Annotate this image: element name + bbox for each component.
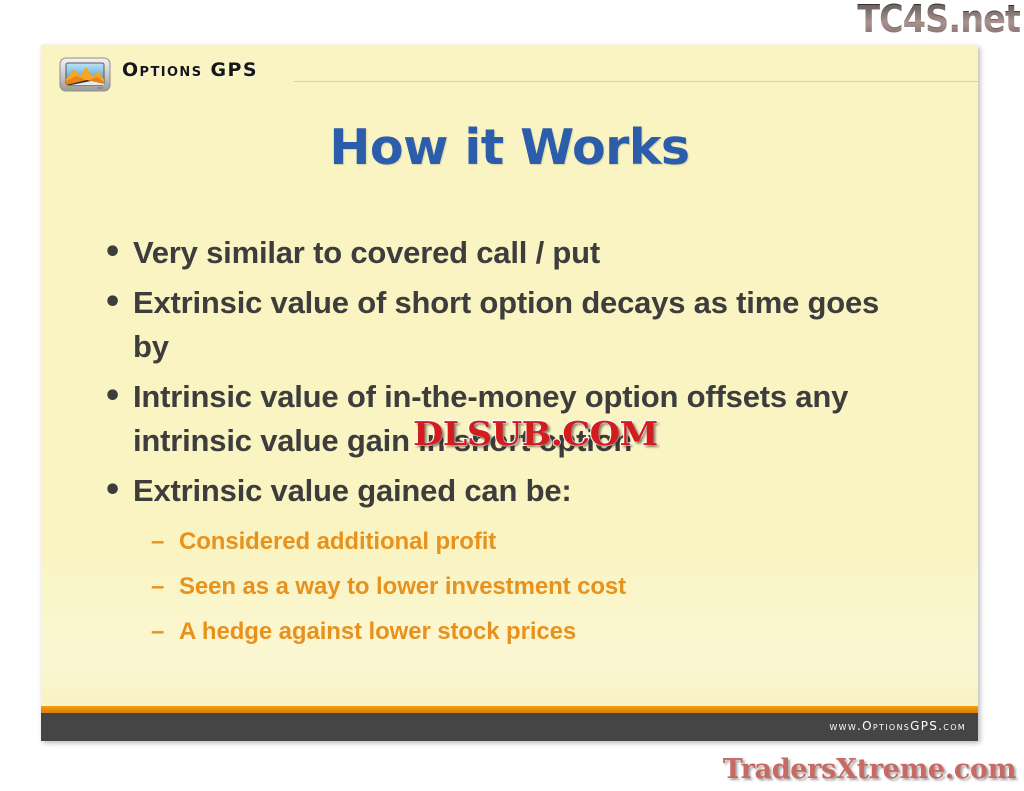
bullet-marker-icon: • xyxy=(99,281,133,325)
sub-bullet-text: Considered additional profit xyxy=(179,519,960,564)
sub-bullet-text: Seen as a way to lower investment cost xyxy=(179,564,960,609)
dash-marker-icon: – xyxy=(151,519,179,564)
list-item: • Very similar to covered call / put xyxy=(99,231,960,275)
dash-marker-icon: – xyxy=(151,564,179,609)
header-divider xyxy=(294,81,978,82)
brand-title: Options GPS xyxy=(122,59,258,81)
bullet-marker-icon: • xyxy=(99,375,133,419)
slide-footer: www.OptionsGPS.com xyxy=(41,713,978,741)
sub-bullet-text: A hedge against lower stock prices xyxy=(179,609,960,654)
bullet-marker-icon: • xyxy=(99,469,133,513)
footer-accent-stripe xyxy=(41,706,978,713)
bullet-text: Extrinsic value gained can be: xyxy=(133,469,923,513)
footer-url-label: www.OptionsGPS.com xyxy=(829,719,966,733)
list-item: • Extrinsic value of short option decays… xyxy=(99,281,960,369)
page-title: How it Works xyxy=(41,119,978,176)
sub-list-item: – A hedge against lower stock prices xyxy=(151,609,960,654)
sub-list-item: – Considered additional profit xyxy=(151,519,960,564)
gps-device-icon xyxy=(57,55,113,95)
presentation-slide: Options GPS How it Works • Very similar … xyxy=(41,45,978,741)
tc4s-watermark: TC4S.net xyxy=(857,0,1020,40)
bullet-text: Extrinsic value of short option decays a… xyxy=(133,281,923,369)
dlsub-watermark: DLSUB.COM xyxy=(413,414,658,453)
list-item: • Extrinsic value gained can be: xyxy=(99,469,960,513)
bullet-text: Very similar to covered call / put xyxy=(133,231,923,275)
dash-marker-icon: – xyxy=(151,609,179,654)
slide-header: Options GPS xyxy=(41,45,978,99)
tradersxtreme-watermark: TradersXtreme.com xyxy=(723,754,1016,785)
bullet-marker-icon: • xyxy=(99,231,133,275)
sub-list-item: – Seen as a way to lower investment cost xyxy=(151,564,960,609)
